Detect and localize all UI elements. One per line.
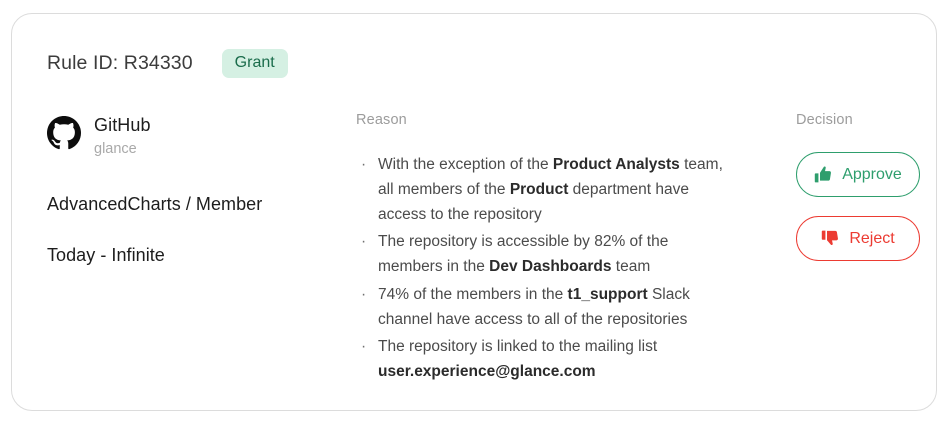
reason-item: ·The repository is accessible by 82% of … [356, 229, 736, 279]
reason-emphasis: Product [510, 181, 569, 198]
reason-text: 74% of the members in the [378, 286, 568, 303]
reason-column: Reason ·With the exception of the Produc… [356, 112, 736, 386]
reason-emphasis: Dev Dashboards [489, 258, 611, 275]
reject-button[interactable]: Reject [796, 216, 920, 261]
status-badge: Grant [222, 49, 288, 78]
reject-label: Reject [849, 230, 894, 248]
approve-button[interactable]: Approve [796, 152, 920, 197]
approve-label: Approve [842, 166, 902, 184]
card-body: GitHub glance AdvancedCharts / Member To… [12, 112, 936, 402]
bullet-icon: · [361, 229, 366, 254]
reason-text: With the exception of the [378, 156, 553, 173]
page-title: Rule ID: R34330 [47, 52, 193, 75]
reason-text: team [611, 258, 650, 275]
provider-text: GitHub glance [94, 112, 151, 158]
reason-item: ·74% of the members in the t1_support Sl… [356, 282, 736, 332]
card-header: Rule ID: R34330 Grant [47, 49, 288, 78]
thumbs-down-icon [821, 229, 840, 248]
workspace-name: glance [94, 141, 151, 158]
bullet-icon: · [361, 282, 366, 307]
resource-column: GitHub glance AdvancedCharts / Member To… [47, 112, 337, 266]
thumbs-up-icon [814, 165, 833, 184]
github-icon [47, 116, 81, 150]
reason-list: ·With the exception of the Product Analy… [356, 152, 736, 384]
reason-item: ·The repository is linked to the mailing… [356, 334, 736, 384]
bullet-icon: · [361, 152, 366, 177]
bullet-icon: · [361, 334, 366, 359]
access-duration: Today - Infinite [47, 245, 337, 266]
provider-row: GitHub glance [47, 112, 337, 158]
reason-emphasis: user.experience@glance.com [378, 363, 596, 380]
reason-emphasis: t1_support [568, 286, 648, 303]
repo-role: AdvancedCharts / Member [47, 194, 337, 215]
reason-text: The repository is linked to the mailing … [378, 338, 657, 355]
reason-header: Reason [356, 112, 736, 128]
access-request-card: Rule ID: R34330 Grant GitHub glance Adva… [11, 13, 937, 411]
reason-emphasis: Product Analysts [553, 156, 680, 173]
reason-item: ·With the exception of the Product Analy… [356, 152, 736, 227]
decision-column: Decision Approve Rej [796, 112, 936, 261]
decision-buttons: Approve Reject [796, 152, 936, 261]
provider-name: GitHub [94, 114, 151, 137]
decision-header: Decision [796, 112, 936, 128]
